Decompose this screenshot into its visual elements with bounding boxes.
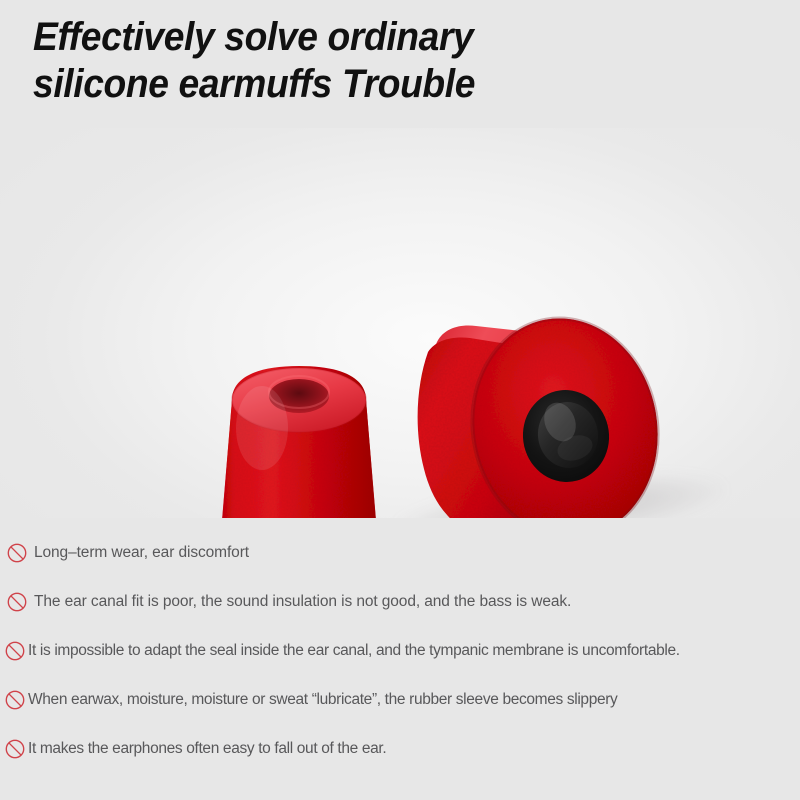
list-item: When earwax, moisture, moisture or sweat… <box>0 675 800 724</box>
prohibition-icon <box>6 591 28 613</box>
list-item: Long–term wear, ear discomfort <box>0 528 800 577</box>
list-item-label: It makes the earphones often easy to fal… <box>28 739 386 759</box>
eartip-upright-graphic <box>215 363 385 518</box>
prohibition-icon <box>4 689 26 711</box>
list-item-label: When earwax, moisture, moisture or sweat… <box>28 690 617 710</box>
product-info-page: Effectively solve ordinary silicone earm… <box>0 0 800 800</box>
prohibition-icon <box>4 738 26 760</box>
list-item: It makes the earphones often easy to fal… <box>0 724 800 773</box>
list-item: The ear canal fit is poor, the sound ins… <box>0 577 800 626</box>
page-title: Effectively solve ordinary silicone earm… <box>33 14 684 108</box>
product-photo <box>0 128 800 518</box>
list-item-label: It is impossible to adapt the seal insid… <box>28 641 680 661</box>
prohibition-icon <box>6 542 28 564</box>
list-item-label: Long–term wear, ear discomfort <box>34 543 249 563</box>
product-photo-scene <box>0 128 800 518</box>
eartip-tilted-graphic <box>400 304 675 518</box>
prohibition-icon <box>4 640 26 662</box>
list-item: It is impossible to adapt the seal insid… <box>0 626 800 675</box>
list-item-label: The ear canal fit is poor, the sound ins… <box>34 592 571 612</box>
problem-list: Long–term wear, ear discomfort The ear c… <box>0 528 800 773</box>
eartips-illustration <box>0 128 800 518</box>
